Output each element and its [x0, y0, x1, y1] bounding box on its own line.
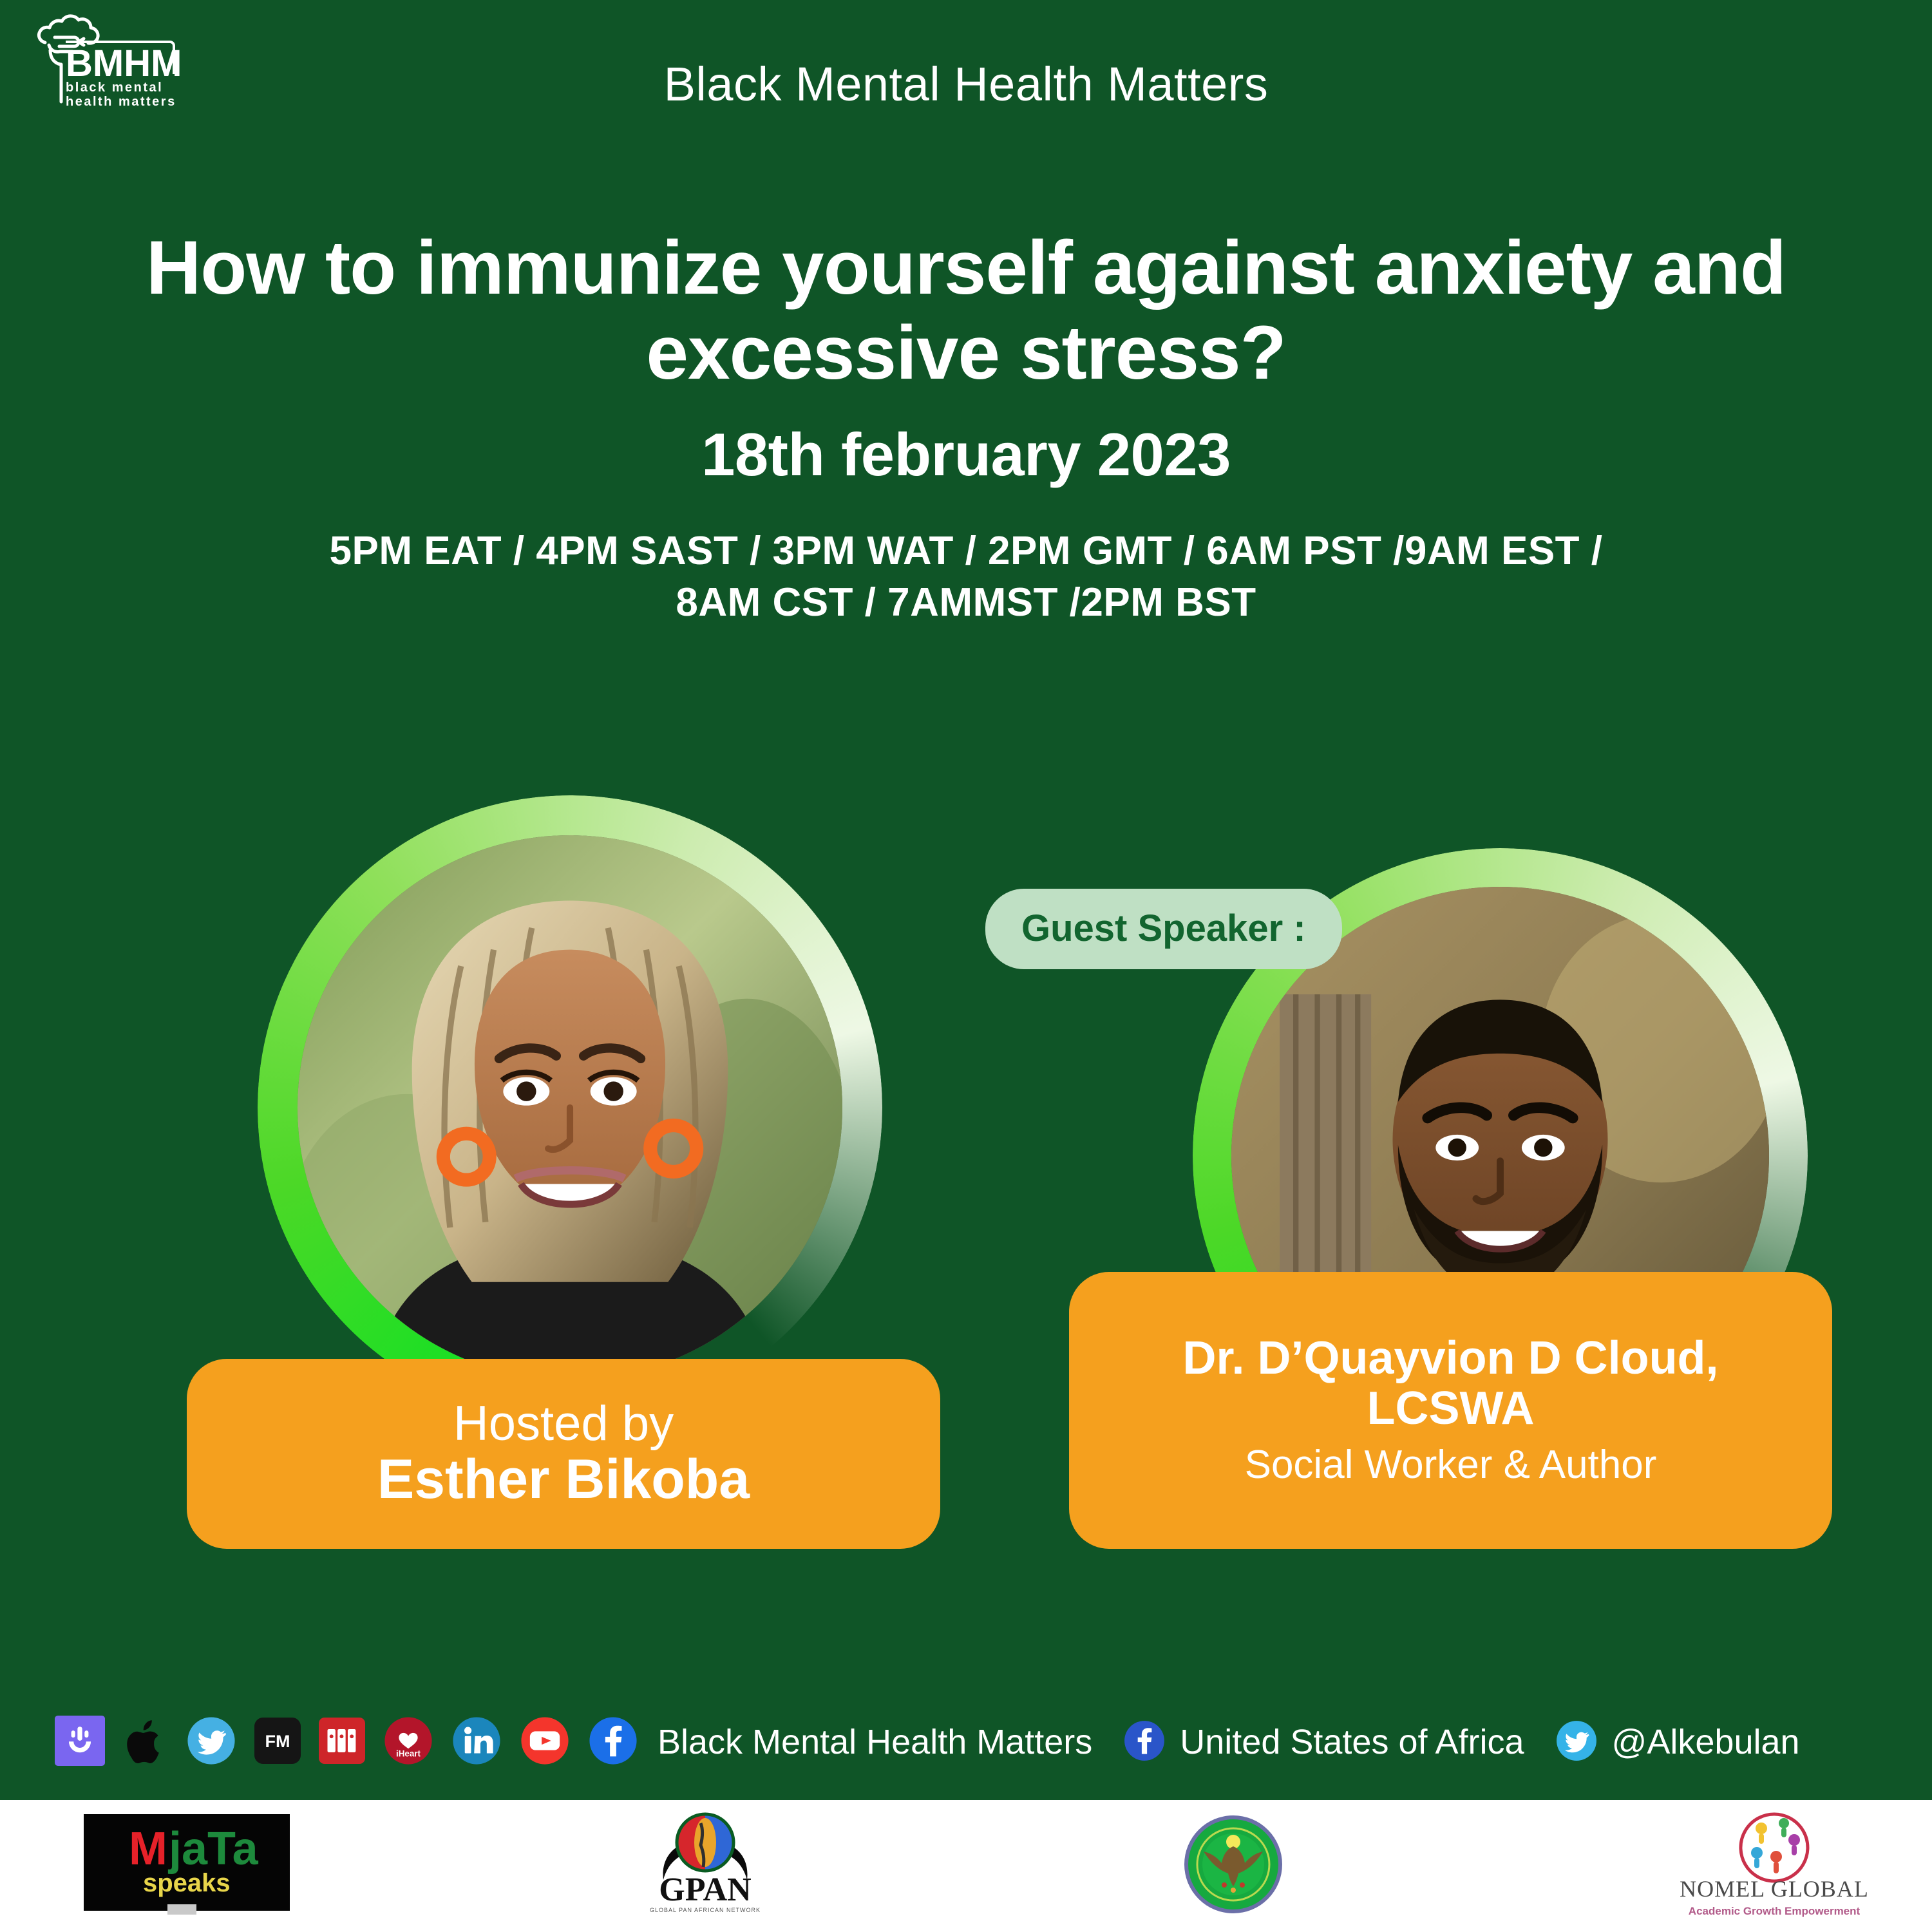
facebook-icon-handle[interactable]: [1123, 1719, 1166, 1765]
page-header-brand: Black Mental Health Matters: [0, 57, 1932, 111]
mjata-jata: jaTa: [167, 1823, 259, 1875]
footer-social-bar: FM iHeart: [0, 1700, 1932, 1784]
nomel-global-logo: NOMEL GLOBAL Academic Growth Empowerment: [1668, 1806, 1880, 1926]
mjata-speaks-logo: M jaTa speaks: [84, 1814, 290, 1917]
radiopublic-icon[interactable]: [319, 1716, 365, 1769]
mjata-speaks: speaks: [143, 1869, 231, 1897]
event-timezones-line2: 8AM CST / 7AMMST /2PM BST: [97, 577, 1835, 628]
fm-player-icon[interactable]: FM: [254, 1718, 301, 1767]
guest-name-line1: Dr. D’Quayvion D Cloud,: [1069, 1334, 1832, 1384]
facebook-icon[interactable]: [588, 1716, 638, 1769]
gpan-tagline: GLOBAL PAN AFRICAN NETWORK: [650, 1907, 761, 1913]
iheartradio-icon[interactable]: iHeart: [383, 1716, 433, 1769]
footer-handle-0: Black Mental Health Matters: [658, 1722, 1092, 1762]
youtube-icon[interactable]: [520, 1716, 570, 1769]
green-seal-logo: [1182, 1813, 1285, 1916]
guest-subtitle: Social Worker & Author: [1069, 1443, 1832, 1487]
host-name-banner: Hosted by Esther Bikoba: [187, 1359, 940, 1549]
event-title: How to immunize yourself against anxiety…: [97, 225, 1835, 395]
apple-podcasts-icon[interactable]: [123, 1716, 168, 1769]
guest-speaker-badge: Guest Speaker :: [985, 889, 1342, 969]
host-prefix: Hosted by: [187, 1398, 940, 1450]
event-timezones: 5PM EAT / 4PM SAST / 3PM WAT / 2PM GMT /…: [97, 526, 1835, 628]
guest-name-banner: Dr. D’Quayvion D Cloud, LCSWA Social Wor…: [1069, 1272, 1832, 1549]
svg-text:iHeart: iHeart: [396, 1748, 421, 1758]
event-timezones-line1: 5PM EAT / 4PM SAST / 3PM WAT / 2PM GMT /…: [97, 526, 1835, 576]
sponsor-strip: M jaTa speaks GPAN GLOBAL PAN AFRICAN NE…: [0, 1800, 1932, 1932]
anchor-podcast-icon[interactable]: [55, 1716, 105, 1769]
guest-name-line2: LCSWA: [1069, 1384, 1832, 1434]
twitter-icon-handle[interactable]: [1555, 1719, 1598, 1765]
linkedin-icon[interactable]: [451, 1716, 502, 1769]
svg-text:FM: FM: [265, 1732, 290, 1751]
footer-handle-2: @Alkebulan: [1612, 1722, 1800, 1762]
event-flyer: BMHM black mental health matters Black M…: [0, 0, 1932, 1932]
host-photo: [298, 835, 842, 1380]
host-portrait: [258, 795, 882, 1420]
twitter-icon[interactable]: [186, 1716, 236, 1769]
footer-handle-1: United States of Africa: [1180, 1722, 1524, 1762]
gpan-acronym: GPAN: [659, 1871, 751, 1908]
nomel-title: NOMEL GLOBAL: [1680, 1876, 1869, 1902]
nomel-tagline: Academic Growth Empowerment: [1689, 1905, 1861, 1917]
mjata-m: M: [129, 1823, 167, 1875]
event-date: 18th february 2023: [97, 420, 1835, 489]
title-block: How to immunize yourself against anxiety…: [97, 225, 1835, 628]
host-name: Esther Bikoba: [187, 1450, 940, 1510]
gpan-logo: GPAN GLOBAL PAN AFRICAN NETWORK: [644, 1809, 766, 1922]
